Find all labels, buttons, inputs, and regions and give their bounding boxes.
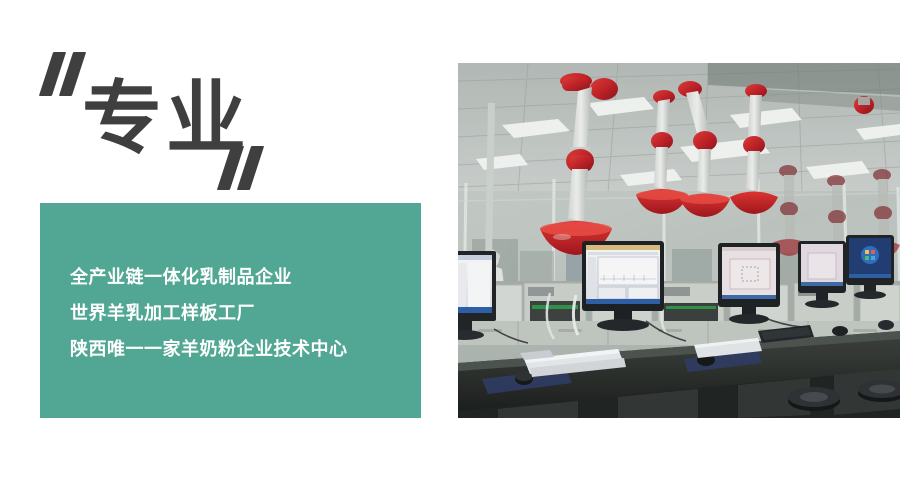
quote-close-icon bbox=[222, 146, 266, 192]
headline-block: 专业 bbox=[40, 50, 340, 200]
left-content-panel: 专业 全产业链一体化乳制品企业 世界羊乳加工样板工厂 陕西唯一一家羊奶粉企业技术… bbox=[0, 0, 440, 500]
highlight-item-2: 世界羊乳加工样板工厂 bbox=[70, 296, 407, 332]
highlight-item-3: 陕西唯一一家羊奶粉企业技术中心 bbox=[70, 332, 407, 368]
laboratory-photo bbox=[458, 63, 900, 418]
highlight-item-1: 全产业链一体化乳制品企业 bbox=[70, 260, 407, 296]
highlights-card: 全产业链一体化乳制品企业 世界羊乳加工样板工厂 陕西唯一一家羊奶粉企业技术中心 bbox=[40, 203, 421, 418]
highlights-list: 全产业链一体化乳制品企业 世界羊乳加工样板工厂 陕西唯一一家羊奶粉企业技术中心 bbox=[70, 260, 407, 368]
